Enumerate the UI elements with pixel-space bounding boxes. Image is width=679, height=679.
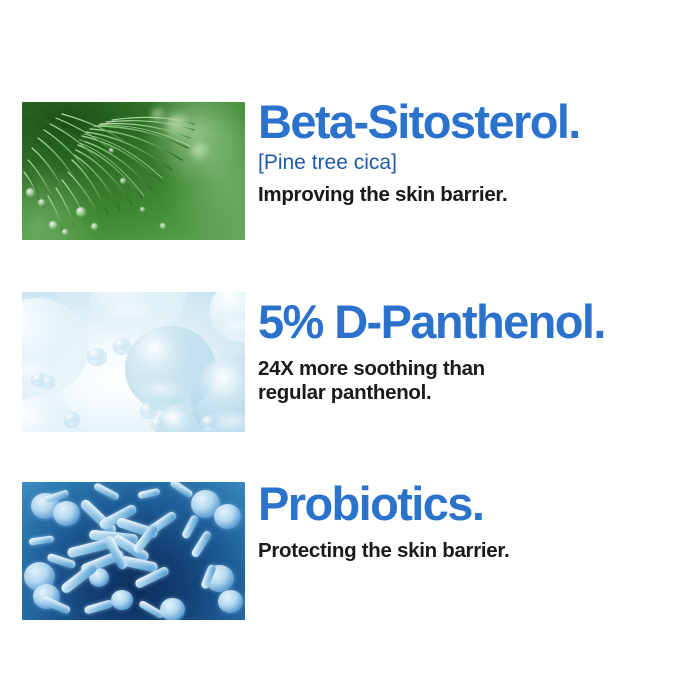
feature-body-line: Protecting the skin barrier. (258, 539, 679, 563)
feature-subtitle: [Pine tree cica] (258, 151, 679, 174)
feature-text-d-panthenol: 5% D-Panthenol. 24X more soothing than r… (258, 298, 679, 405)
pine-needles-photo (22, 102, 245, 240)
pine-needle-illustration (22, 102, 245, 240)
feature-body-line: 24X more soothing than (258, 357, 679, 381)
feature-text-beta-sitosterol: Beta-Sitosterol. [Pine tree cica] Improv… (258, 98, 679, 207)
feature-heading: 5% D-Panthenol. (258, 298, 679, 345)
product-benefits-infographic: Beta-Sitosterol. [Pine tree cica] Improv… (0, 0, 679, 679)
feature-body-line: Improving the skin barrier. (258, 183, 679, 207)
probiotic-bacteria-photo (22, 482, 245, 620)
feature-body-line: regular panthenol. (258, 381, 679, 405)
feature-heading: Beta-Sitosterol. (258, 98, 679, 145)
water-bubbles-photo (22, 292, 245, 432)
feature-heading: Probiotics. (258, 480, 679, 527)
feature-text-probiotics: Probiotics. Protecting the skin barrier. (258, 480, 679, 563)
